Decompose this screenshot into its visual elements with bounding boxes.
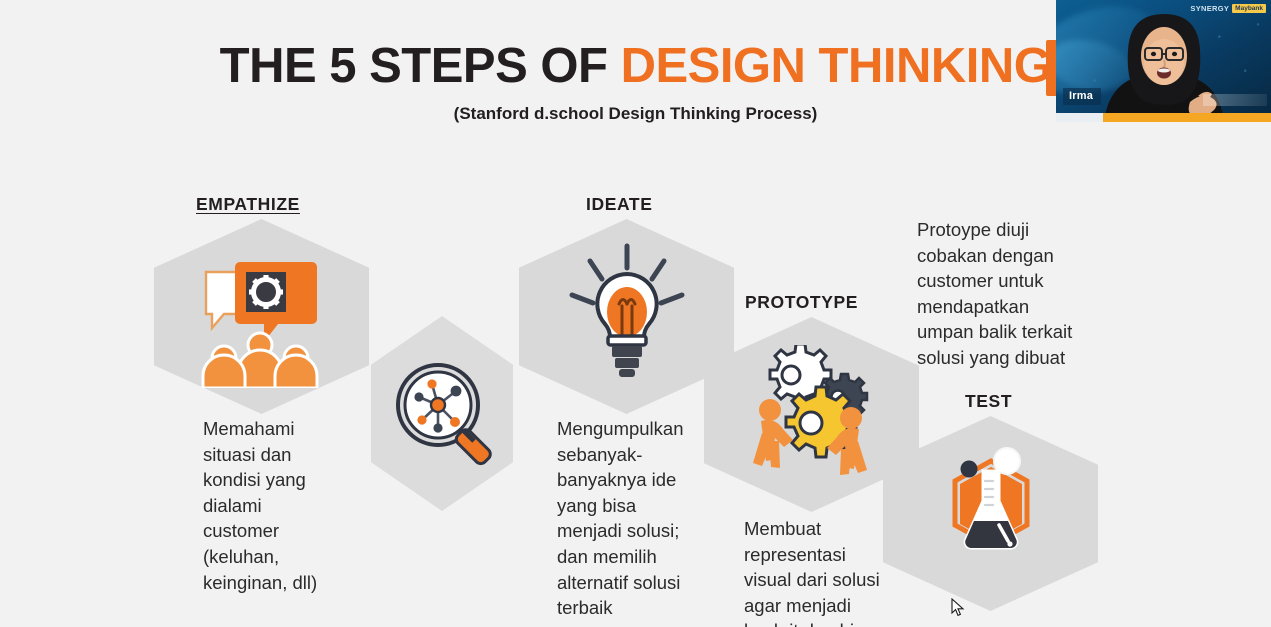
flask-beaker-icon — [941, 447, 1041, 569]
description-test: Protoype diuji cobakan dengan customer u… — [917, 217, 1072, 371]
speech-bubbles-people-icon — [198, 248, 326, 388]
video-lower-third-bar — [1203, 94, 1267, 106]
video-thumbnail[interactable]: SYNERGY Maybank — [1056, 0, 1271, 122]
desc-line: alternatif solusi — [557, 570, 684, 596]
desc-line: sebanyak- — [557, 442, 684, 468]
desc-line: yang bisa — [557, 493, 684, 519]
mouse-cursor — [951, 598, 965, 618]
step-label-empathize: EMPATHIZE — [196, 194, 300, 215]
desc-line: konkrit dan bisa — [744, 618, 880, 627]
slide-canvas: THE 5 STEPS OF DESIGN THINKING (Stanford… — [0, 0, 1271, 627]
desc-line: dan memilih — [557, 544, 684, 570]
desc-line: representasi — [744, 542, 880, 568]
page-title-accent: DESIGN THINKING — [621, 39, 1052, 93]
description-ideate: Mengumpulkan sebanyak- banyaknya ide yan… — [557, 416, 684, 621]
desc-line: solusi yang dibuat — [917, 345, 1072, 371]
step-label-test: TEST — [965, 391, 1012, 412]
lightbulb-icon — [566, 240, 688, 395]
desc-line: Protoype diuji — [917, 217, 1072, 243]
participant-name-label: Irma — [1063, 88, 1101, 105]
video-bottom-strip-left — [1056, 113, 1103, 122]
desc-line: keinginan, dll) — [203, 570, 317, 596]
step-label-ideate: IDEATE — [586, 194, 652, 215]
desc-line: mendapatkan — [917, 294, 1072, 320]
description-prototype: Membuat representasi visual dari solusi … — [744, 516, 880, 627]
desc-line: dialami — [203, 493, 317, 519]
page-title-prefix: THE 5 STEPS OF — [220, 39, 621, 93]
desc-line: umpan balik terkait — [917, 319, 1072, 345]
desc-line: banyaknya ide — [557, 467, 684, 493]
desc-line: (keluhan, — [203, 544, 317, 570]
magnifier-network-icon — [388, 355, 508, 475]
desc-line: Membuat — [744, 516, 880, 542]
desc-line: visual dari solusi — [744, 567, 880, 593]
desc-line: customer — [203, 518, 317, 544]
desc-line: agar menjadi — [744, 593, 880, 619]
desc-line: kondisi yang — [203, 467, 317, 493]
desc-line: Memahami — [203, 416, 317, 442]
desc-line: Mengumpulkan — [557, 416, 684, 442]
people-gears-icon — [745, 345, 875, 480]
description-empathize: Memahami situasi dan kondisi yang dialam… — [203, 416, 317, 595]
step-label-prototype: PROTOTYPE — [745, 292, 858, 313]
desc-line: terbaik — [557, 595, 684, 621]
brand-badge: Maybank — [1232, 4, 1266, 13]
desc-line: customer untuk — [917, 268, 1072, 294]
desc-line: menjadi solusi; — [557, 518, 684, 544]
desc-line: situasi dan — [203, 442, 317, 468]
desc-line: cobakan dengan — [917, 243, 1072, 269]
